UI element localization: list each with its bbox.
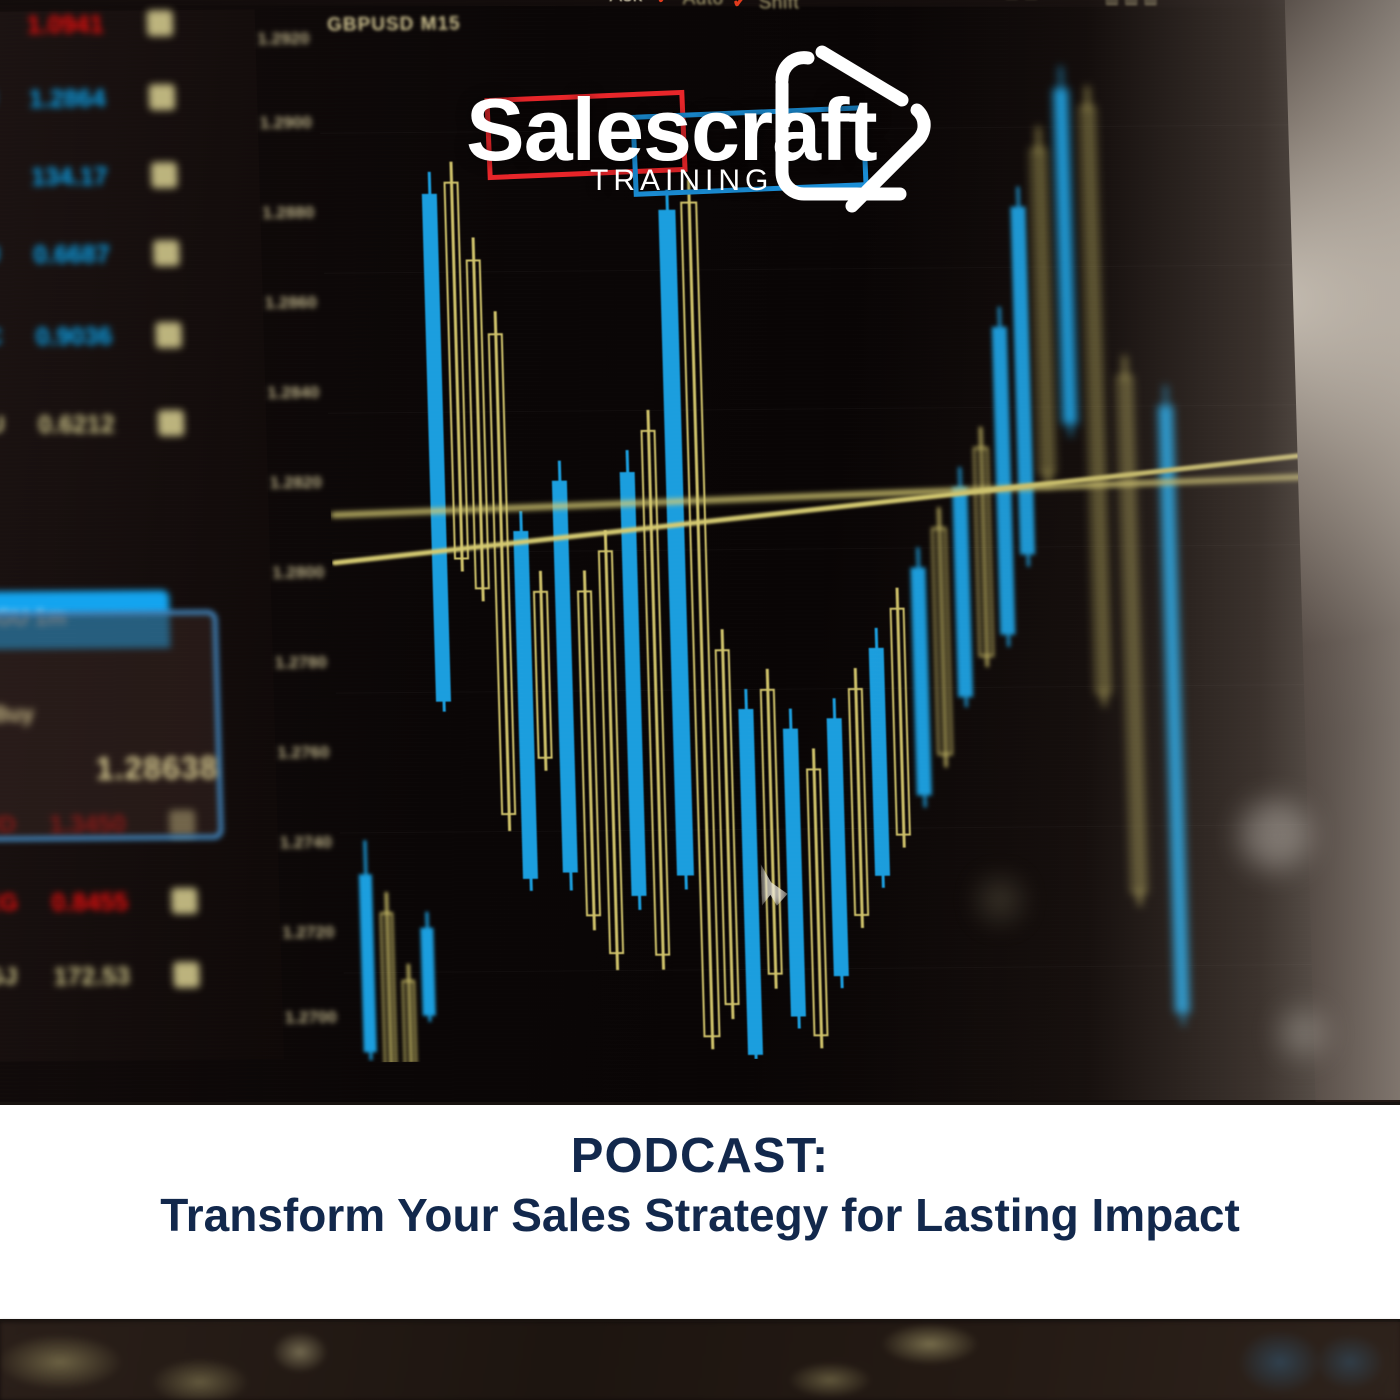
bottom-photo-strip xyxy=(0,1322,1400,1400)
play-triangle-icon xyxy=(752,22,952,222)
banner-title: Transform Your Sales Strategy for Lastin… xyxy=(160,1188,1240,1243)
salescraft-logo[interactable]: Salescraft TRAINING xyxy=(452,22,952,202)
candlestick xyxy=(782,709,806,1029)
logo-tagline: TRAINING xyxy=(590,164,773,198)
candlestick xyxy=(952,467,974,707)
candle-body xyxy=(783,729,806,1017)
banner-eyebrow: PODCAST: xyxy=(571,1129,829,1184)
caption-banner: PODCAST: Transform Your Sales Strategy f… xyxy=(0,1102,1400,1322)
podcast-cover-image: Window grid ▾ M15 ▾ ✔ Bid ✓ Ask ✔ Auto ✔… xyxy=(0,0,1400,1400)
candle-body xyxy=(1158,405,1190,1013)
